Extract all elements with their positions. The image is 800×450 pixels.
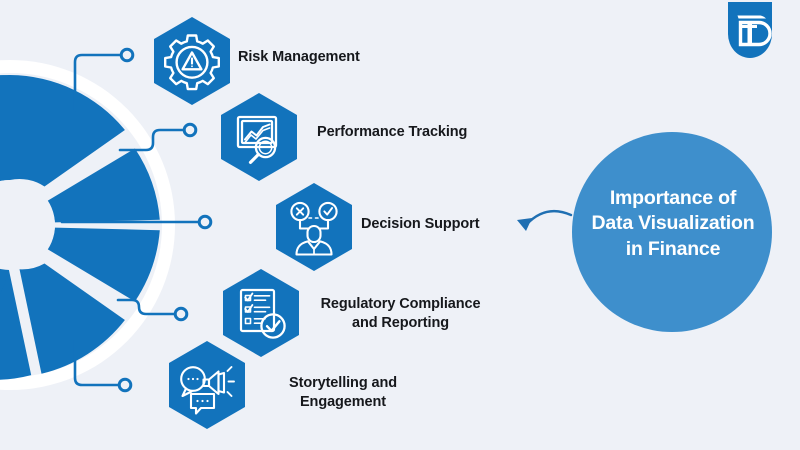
label-performance-tracking: Performance Tracking bbox=[317, 123, 567, 142]
label-regulatory-compliance: Regulatory Compliance and Reporting bbox=[318, 295, 483, 332]
center-topic-title: Importance of Data Visualization in Fina… bbox=[566, 186, 780, 262]
icon-storytelling[interactable] bbox=[169, 341, 245, 429]
label-risk-management: Risk Management bbox=[238, 48, 488, 67]
icon-performance-tracking[interactable] bbox=[221, 93, 297, 181]
brand-logo[interactable] bbox=[726, 2, 774, 58]
hexagon-performance-tracking bbox=[221, 93, 297, 181]
label-storytelling: Storytelling and Engagement bbox=[263, 374, 423, 411]
icon-regulatory-compliance[interactable] bbox=[223, 269, 299, 357]
hexagon-regulatory-compliance bbox=[223, 269, 299, 357]
icon-risk-management[interactable] bbox=[154, 17, 230, 105]
infographic-canvas: Risk Management Performance Tracking Dec… bbox=[0, 0, 800, 450]
icon-decision-support[interactable] bbox=[276, 183, 352, 271]
